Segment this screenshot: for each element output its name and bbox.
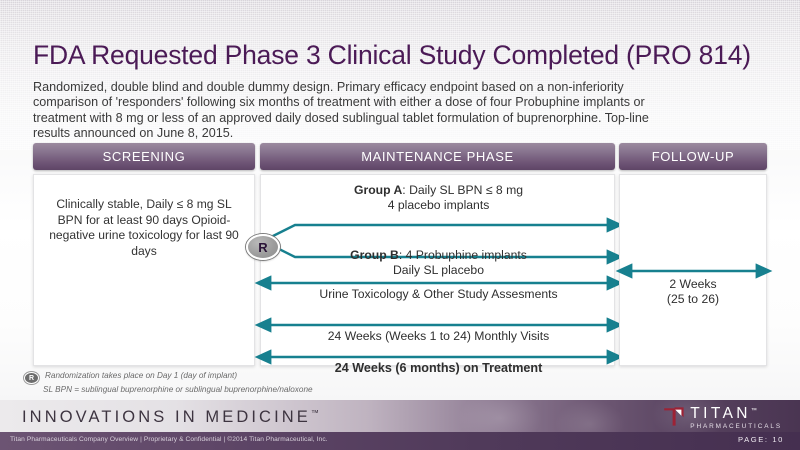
- column-header-screening: SCREENING: [33, 143, 255, 170]
- group-b-dose: : 4 Probuphine implants: [399, 248, 527, 262]
- group-a-implants-label: 4 placebo implants: [261, 198, 616, 212]
- column-header-maintenance: MAINTENANCE PHASE: [260, 143, 615, 170]
- slide: FDA Requested Phase 3 Clinical Study Com…: [0, 0, 800, 450]
- monthly-visits-label: 24 Weeks (Weeks 1 to 24) Monthly Visits: [261, 329, 616, 343]
- footer-tagline: INNOVATIONS IN MEDICINE™: [22, 408, 319, 427]
- group-b-dose-label: Group B: 4 Probuphine implants: [261, 248, 616, 262]
- screening-criteria-text: Clinically stable, Daily ≤ 8 mg SL BPN f…: [34, 175, 254, 259]
- randomization-badge: R: [246, 234, 280, 260]
- panel-maintenance: R: [260, 174, 615, 366]
- page-number: PAGE: 10: [738, 435, 784, 444]
- column-maintenance: MAINTENANCE PHASE R: [260, 143, 615, 366]
- followup-week-range: (25 to 26): [620, 292, 766, 307]
- group-b-placebo-label: Daily SL placebo: [261, 263, 616, 277]
- footer-tagline-tm: ™: [311, 409, 319, 418]
- column-header-followup: FOLLOW-UP: [619, 143, 767, 170]
- intro-paragraph: Randomized, double blind and double dumm…: [33, 80, 658, 142]
- panel-followup: 2 Weeks (25 to 26): [619, 174, 767, 366]
- footnote-row-randomization: R Randomization takes place on Day 1 (da…: [24, 370, 504, 384]
- titan-logo-name: TITAN™: [690, 403, 782, 422]
- copyright-text: Titan Pharmaceuticals Company Overview |…: [10, 436, 328, 443]
- column-screening: SCREENING Clinically stable, Daily ≤ 8 m…: [33, 143, 255, 366]
- footnote-r-badge-icon: R: [24, 372, 39, 384]
- urine-toxicology-label: Urine Toxicology & Other Study Assesment…: [261, 287, 616, 301]
- maintenance-inner: Group A: Daily SL BPN ≤ 8 mg 4 placebo i…: [261, 175, 616, 365]
- footnotes: R Randomization takes place on Day 1 (da…: [24, 370, 504, 395]
- footer-tagline-text: INNOVATIONS IN MEDICINE: [22, 408, 311, 426]
- panel-screening: Clinically stable, Daily ≤ 8 mg SL BPN f…: [33, 174, 255, 366]
- titan-tm: ™: [751, 408, 757, 414]
- group-b-name: Group B: [350, 248, 399, 262]
- group-a-dose-label: Group A: Daily SL BPN ≤ 8 mg: [261, 183, 616, 197]
- group-a-dose: : Daily SL BPN ≤ 8 mg: [402, 183, 523, 197]
- titan-logo-icon: [662, 404, 686, 428]
- followup-weeks: 2 Weeks: [620, 277, 766, 292]
- column-followup: FOLLOW-UP 2 Weeks (25 to 26): [619, 143, 767, 366]
- titan-logo: TITAN™ PHARMACEUTICALS: [662, 403, 782, 430]
- group-a-name: Group A: [354, 183, 402, 197]
- titan-logo-text: TITAN™ PHARMACEUTICALS: [690, 403, 782, 430]
- followup-duration: 2 Weeks (25 to 26): [620, 277, 766, 307]
- titan-name-text: TITAN: [690, 405, 751, 422]
- footnote-abbreviation-text: SL BPN = sublingual buprenorphine or sub…: [43, 384, 504, 395]
- footer-band: INNOVATIONS IN MEDICINE™ TITAN™ PHARMACE…: [0, 400, 800, 432]
- titan-logo-subtitle: PHARMACEUTICALS: [690, 423, 782, 430]
- study-design-diagram: SCREENING Clinically stable, Daily ≤ 8 m…: [33, 143, 767, 368]
- followup-arrow: [620, 175, 768, 365]
- footnote-randomization-text: Randomization takes place on Day 1 (day …: [45, 370, 237, 381]
- page-title: FDA Requested Phase 3 Clinical Study Com…: [33, 40, 773, 71]
